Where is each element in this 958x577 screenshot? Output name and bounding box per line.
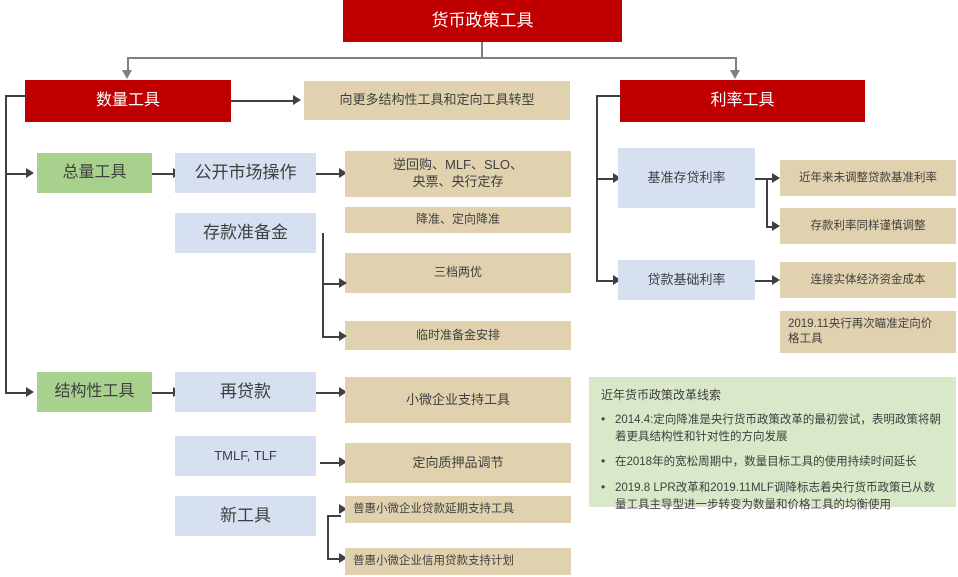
arrowhead-to-rate [730, 70, 740, 79]
connector-newtools-to-defer [327, 515, 341, 517]
leaf-omo-instruments[interactable]: 逆回购、MLF、SLO、 央票、央行定存 [345, 151, 571, 197]
connector-relending-to-sme [316, 392, 341, 394]
list-item: • 在2018年的宽松周期中，数量目标工具的使用持续时间延长 [599, 454, 946, 471]
leaf-2019-price-tool[interactable]: 2019.11央行再次瞄准定向价 格工具 [780, 311, 956, 353]
arrowhead-no-adjust [772, 173, 780, 183]
node-new-tools[interactable]: 新工具 [175, 496, 316, 536]
reform-notes-list: • 2014.4:定向降准是央行货币政策改革的最初尝试，表明政策将朝着更具结构性… [599, 412, 946, 513]
node-loan-prime-rate[interactable]: 贷款基础利率 [618, 260, 755, 300]
list-item-text: 2014.4:定向降准是央行货币政策改革的最初尝试，表明政策将朝着更具结构性和针… [615, 414, 941, 443]
arrowhead-temp-reserve [339, 331, 347, 341]
node-quantity-transition-note[interactable]: 向更多结构性工具和定向工具转型 [304, 81, 570, 120]
leaf-temporary-reserve[interactable]: 临时准备金安排 [345, 321, 571, 350]
connector-root-bus [127, 57, 736, 59]
bullet-icon: • [601, 453, 605, 470]
connector-rate-trunk-top [596, 95, 622, 97]
connector-trunk-to-structural [5, 392, 27, 394]
leaf-no-benchmark-adjustment[interactable]: 近年来未调整贷款基准利率 [780, 160, 956, 196]
node-root[interactable]: 货币政策工具 [343, 0, 622, 42]
connector-newtools-trunk [327, 515, 329, 559]
reform-notes-title: 近年货币政策改革线索 [601, 386, 946, 403]
arrowhead-to-quantity [122, 70, 132, 79]
list-item-text: 在2018年的宽松周期中，数量目标工具的使用持续时间延长 [615, 456, 917, 468]
connector-quantity-trunk-top [5, 95, 27, 97]
leaf-sme-support-tools[interactable]: 小微企业支持工具 [345, 377, 571, 423]
diagram-canvas: 货币政策工具 数量工具 向更多结构性工具和定向工具转型 总量工具 结构性工具 公… [0, 0, 958, 577]
bullet-icon: • [601, 479, 605, 496]
node-quantity-tools[interactable]: 数量工具 [25, 80, 231, 122]
leaf-real-economy-cost[interactable]: 连接实体经济资金成本 [780, 262, 956, 298]
node-aggregate-tools[interactable]: 总量工具 [37, 153, 152, 193]
arrowhead-three-tier [339, 278, 347, 288]
node-rate-tools[interactable]: 利率工具 [620, 80, 865, 122]
connector-tmlf-to-collateral [320, 462, 341, 464]
arrowhead-deposit-rate [772, 221, 780, 231]
arrowhead-aggregate [26, 168, 34, 178]
connector-root-stem [481, 42, 483, 58]
list-item: • 2019.8 LPR改革和2019.11MLF调降标志着央行货币政策已从数量… [599, 480, 946, 513]
node-open-market-operation[interactable]: 公开市场操作 [175, 153, 316, 193]
node-reserve-requirement[interactable]: 存款准备金 [175, 213, 316, 253]
list-item: • 2014.4:定向降准是央行货币政策改革的最初尝试，表明政策将朝着更具结构性… [599, 412, 946, 445]
leaf-directed-collateral[interactable]: 定向质押品调节 [345, 443, 571, 483]
node-benchmark-rate[interactable]: 基准存贷利率 [618, 148, 755, 208]
leaf-three-tier-two-preference[interactable]: 三档两优 [345, 253, 571, 293]
arrowhead-structural [26, 387, 34, 397]
connector-aggregate-to-omo [152, 173, 174, 175]
connector-omo-to-leaf [316, 173, 341, 175]
arrowhead-real-econ [772, 275, 780, 285]
node-tmlf-tlf[interactable]: TMLF, TLF [175, 436, 316, 476]
arrowhead-quantity-note [293, 95, 301, 105]
connector-quantity-to-note [231, 100, 294, 102]
connector-structural-to-relending [152, 392, 174, 394]
connector-quantity-trunk [5, 95, 7, 393]
node-structural-tools[interactable]: 结构性工具 [37, 372, 152, 412]
connector-trunk-to-aggregate [5, 173, 27, 175]
list-item-text: 2019.8 LPR改革和2019.11MLF调降标志着央行货币政策已从数量工具… [615, 482, 935, 511]
connector-benchmark-trunk [766, 178, 768, 226]
leaf-rrr-cut[interactable]: 降准、定向降准 [345, 207, 571, 233]
leaf-inclusive-credit-plan[interactable]: 普惠小微企业信用贷款支持计划 [345, 548, 571, 575]
connector-rate-trunk [596, 95, 598, 281]
leaf-deposit-rate-prudent[interactable]: 存款利率同样谨慎调整 [780, 208, 956, 244]
bullet-icon: • [601, 411, 605, 428]
reform-notes-panel: 近年货币政策改革线索 • 2014.4:定向降准是央行货币政策改革的最初尝试，表… [589, 377, 956, 507]
node-relending[interactable]: 再贷款 [175, 372, 316, 412]
leaf-inclusive-defer-support[interactable]: 普惠小微企业贷款延期支持工具 [345, 496, 571, 523]
